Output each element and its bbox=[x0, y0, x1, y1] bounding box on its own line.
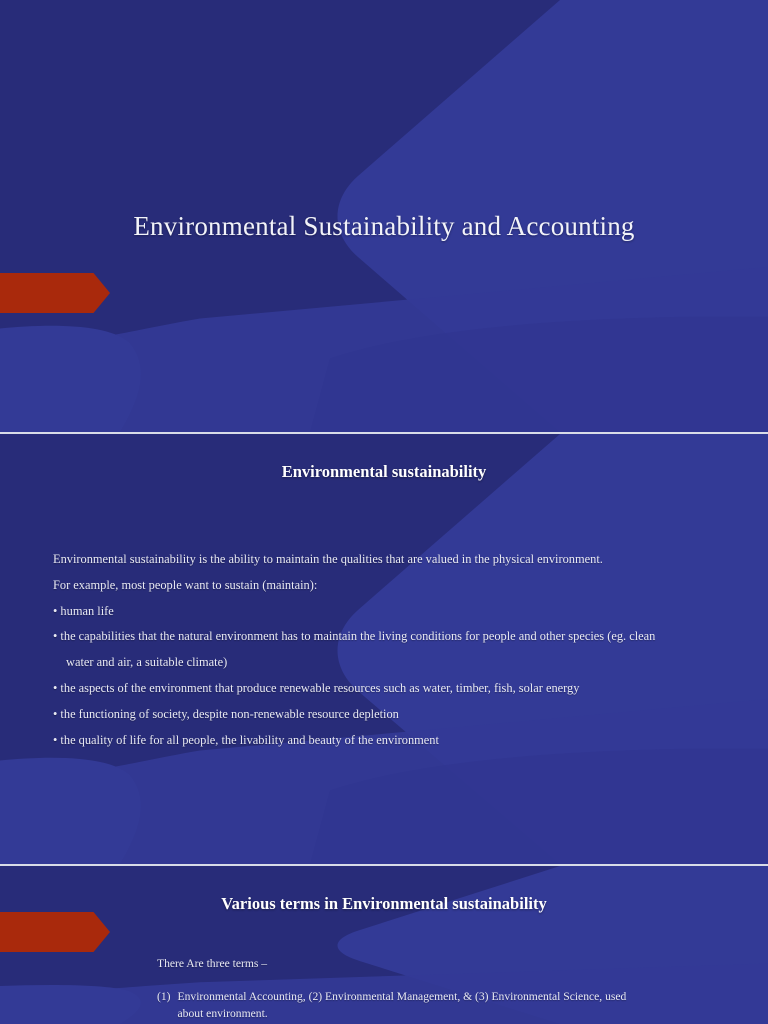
list-item: • the quality of life for all people, th… bbox=[53, 728, 762, 754]
list-item: • human life bbox=[53, 599, 762, 625]
body-line: Environmental sustainability is the abil… bbox=[53, 547, 762, 573]
list-item-number: (1) bbox=[157, 988, 171, 1022]
body-line: For example, most people want to sustain… bbox=[53, 573, 762, 599]
list-item-text: Environmental Accounting, (2) Environmen… bbox=[178, 988, 648, 1022]
body-text-block: Environmental sustainability is the abil… bbox=[53, 547, 762, 753]
slide-various-terms: Various terms in Environmental sustainab… bbox=[0, 866, 768, 1024]
slide-environmental-sustainability: Environmental sustainability Environment… bbox=[0, 434, 768, 866]
list-item: (1) Environmental Accounting, (2) Enviro… bbox=[157, 988, 648, 1022]
list-item: • the functioning of society, despite no… bbox=[53, 702, 762, 728]
slide-title: Environmental Sustainability and Account… bbox=[0, 0, 768, 434]
presentation-deck: Environmental Sustainability and Account… bbox=[0, 0, 768, 1024]
slide-heading: Environmental sustainability bbox=[0, 462, 768, 482]
page-title: Environmental Sustainability and Account… bbox=[0, 211, 768, 242]
list-item: • the capabilities that the natural envi… bbox=[53, 624, 762, 650]
slide-heading: Various terms in Environmental sustainab… bbox=[0, 894, 768, 914]
terms-intro: There Are three terms – bbox=[157, 955, 648, 972]
terms-text-block: There Are three terms – (1) Environmenta… bbox=[157, 955, 648, 1022]
list-item: • the aspects of the environment that pr… bbox=[53, 676, 762, 702]
list-item-continuation: water and air, a suitable climate) bbox=[53, 650, 762, 676]
